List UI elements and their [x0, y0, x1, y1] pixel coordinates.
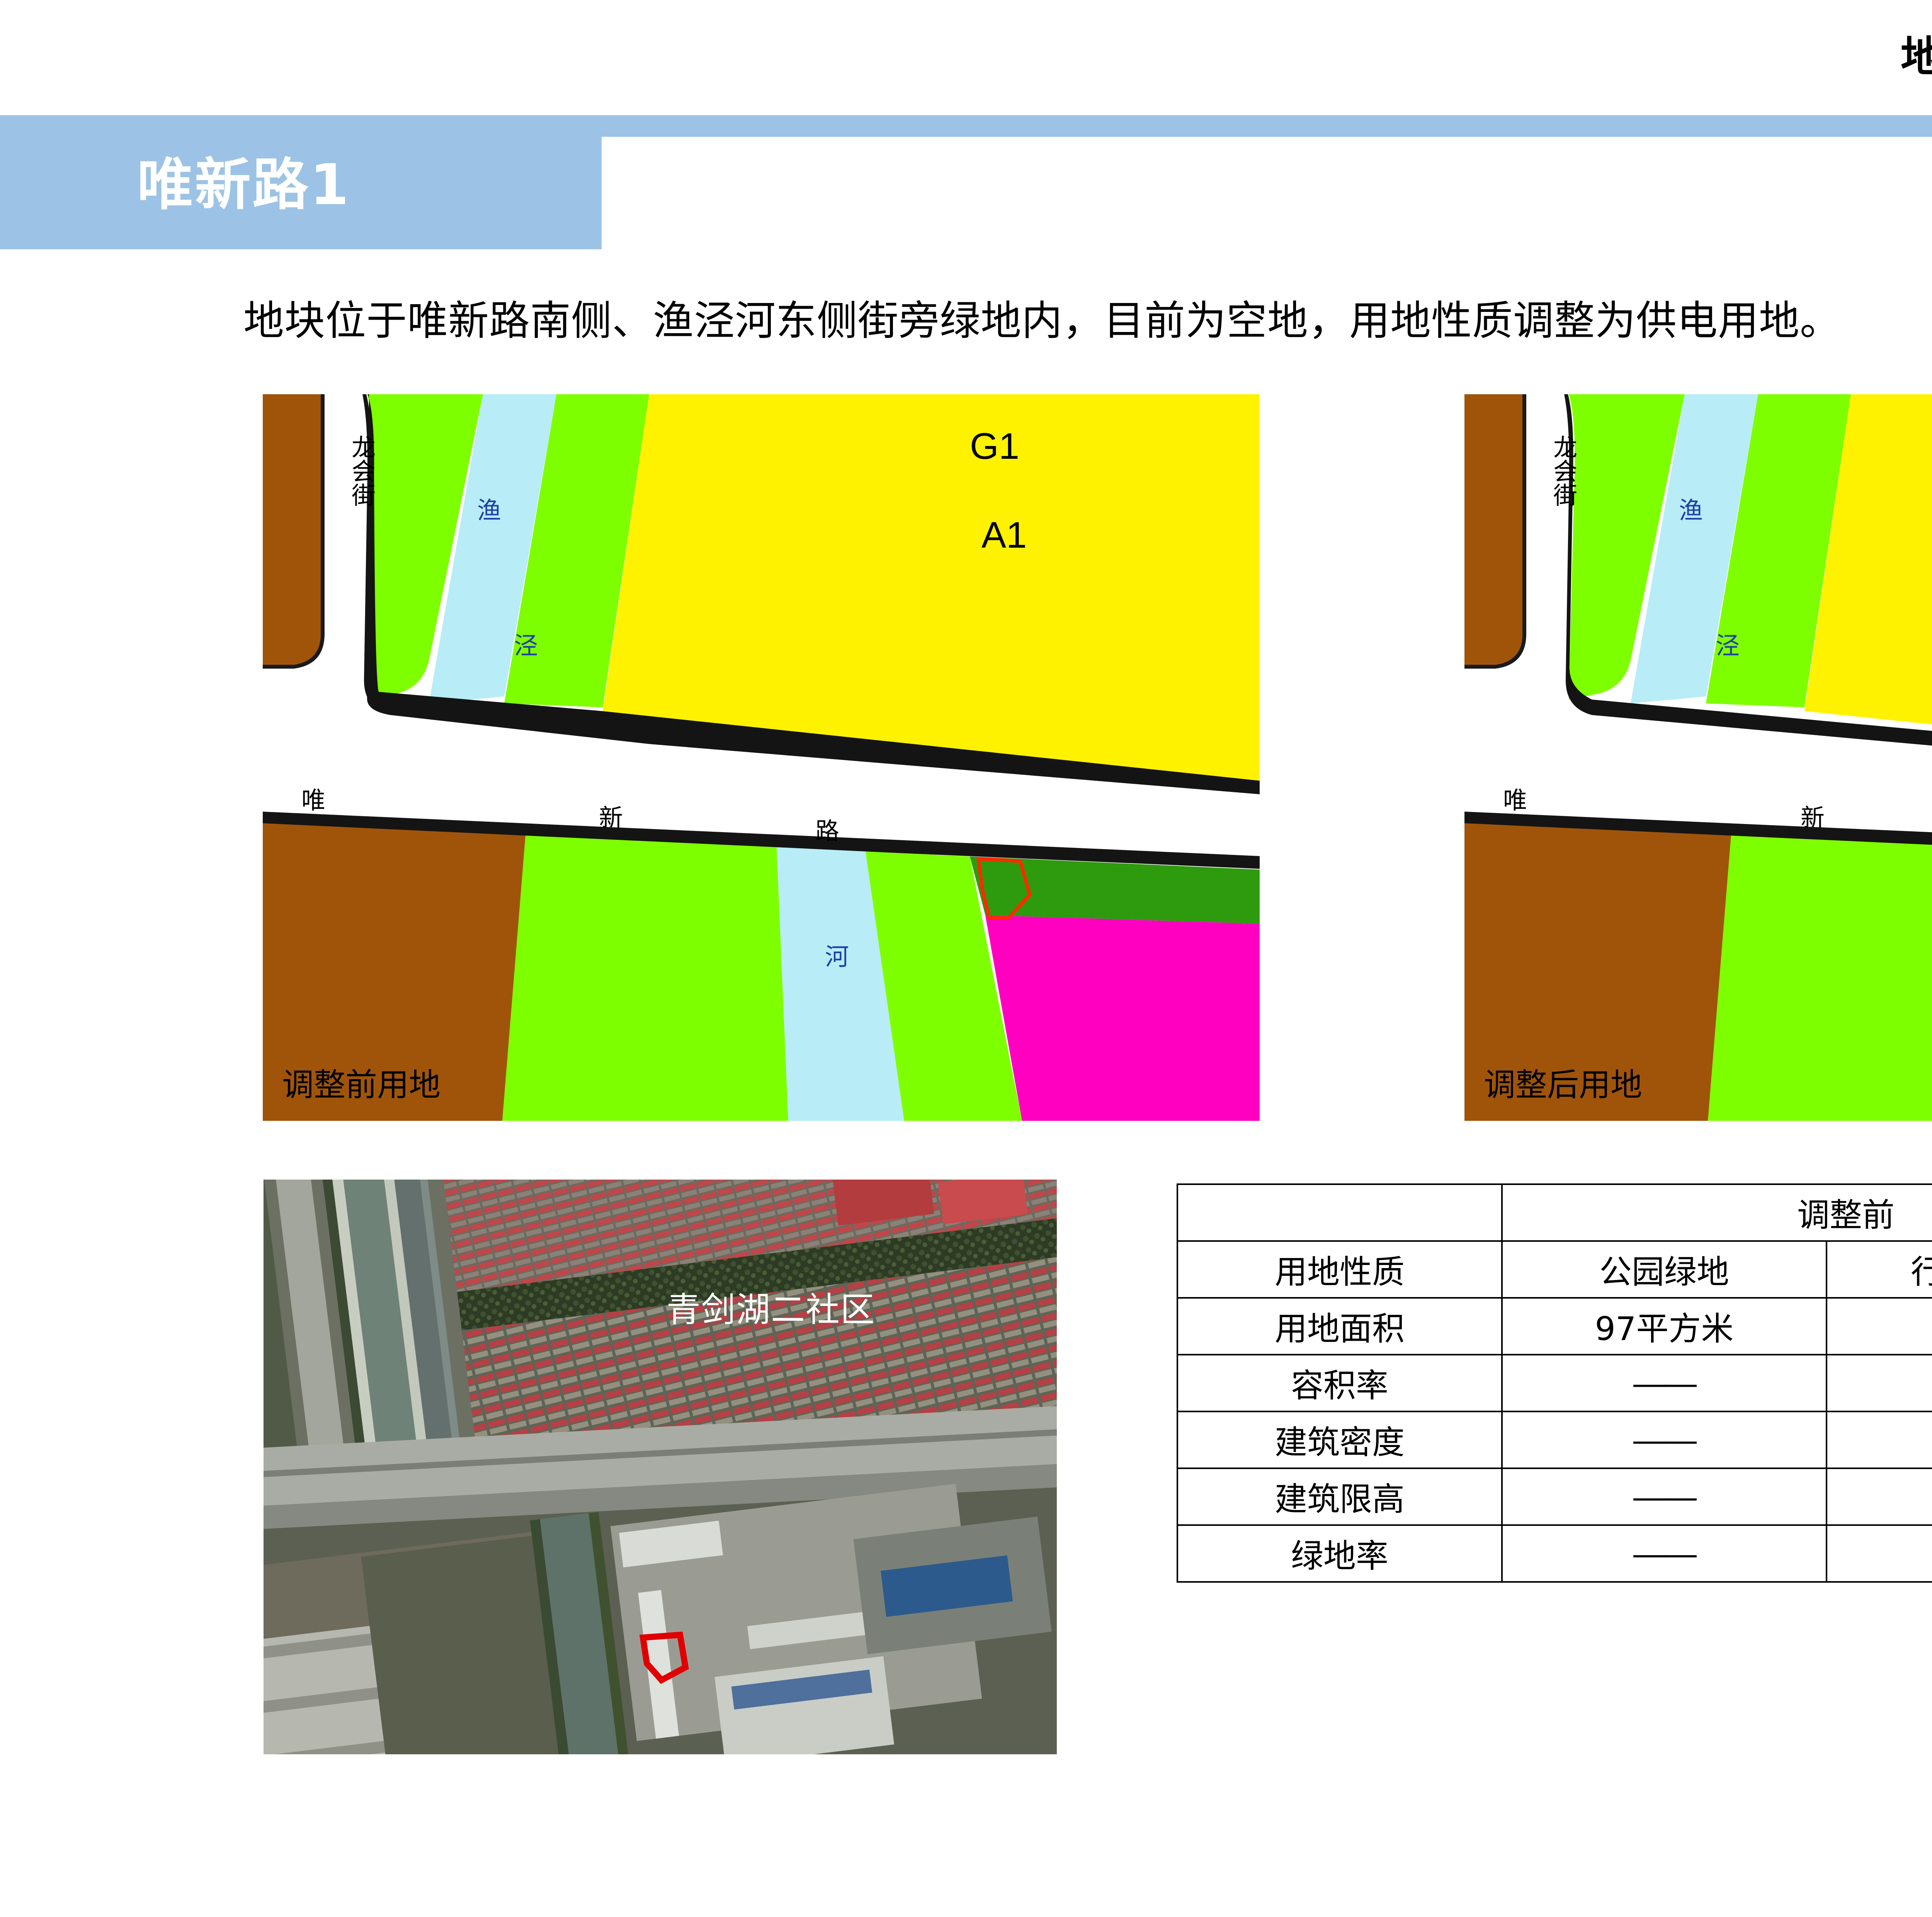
- row-label-land-area: 用地面积: [1177, 1298, 1502, 1355]
- label-road-1-before: 唯: [301, 781, 325, 815]
- upper-block-after: [1464, 394, 1932, 794]
- satellite-photo-svg: [264, 1180, 1057, 1754]
- label-river-lower-after: 泾: [1716, 626, 1740, 661]
- cell-before-2: ——: [1827, 1411, 1932, 1468]
- label-river-lower-before: 泾: [514, 626, 538, 661]
- cell-before-2: ——: [1827, 1468, 1932, 1525]
- description-paragraph: 地块位于唯新路南侧、渔泾河东侧街旁绿地内，目前为空地，用地性质调整为供电用地。: [243, 288, 1841, 347]
- row-label-green-ratio: 绿地率: [1177, 1525, 1502, 1582]
- cell-before-1: ——: [1502, 1411, 1827, 1468]
- label-river-upper-before: 渔: [477, 491, 501, 526]
- page-title: 唯新路1: [137, 139, 350, 220]
- table-row: 建筑限高 —— —— 12米: [1177, 1468, 1932, 1525]
- table-row: 绿地率 —— —— ——: [1177, 1525, 1932, 1582]
- label-street-after: 龙会街: [1546, 435, 1580, 507]
- table-row: 用地面积 97平方米 22平方米 119平方米: [1177, 1298, 1932, 1355]
- row-label-height-limit: 建筑限高: [1177, 1468, 1502, 1525]
- map-before-adjustment: 龙会街 渔 泾 唯 新 路 河: [263, 394, 1260, 1121]
- cell-before-2: ——: [1827, 1355, 1932, 1411]
- cell-before-1: ——: [1502, 1355, 1827, 1411]
- magenta-block: [985, 915, 1260, 1121]
- brown-block-icon-2: [1464, 394, 1522, 665]
- label-river-upper-after: 渔: [1679, 491, 1703, 526]
- row-label-far: 容积率: [1177, 1355, 1502, 1411]
- satellite-photo: [264, 1180, 1057, 1754]
- cell-before-1: 公园绿地: [1502, 1241, 1827, 1298]
- cell-before-1: ——: [1502, 1468, 1827, 1525]
- label-street-before: 龙会街: [344, 435, 379, 507]
- cell-before-2: 22平方米: [1827, 1298, 1932, 1355]
- row-label-land-use: 用地性质: [1177, 1241, 1502, 1298]
- photo-community-label: 青剑湖二社区: [667, 1282, 875, 1331]
- table-header-row: 调整前 调整后: [1177, 1184, 1932, 1241]
- label-road-2-after: 新: [1801, 798, 1825, 833]
- table-header-before: 调整前: [1502, 1184, 1932, 1241]
- caption-before-adjustment: 调整前用地: [282, 1059, 440, 1105]
- map-before-svg: [263, 394, 1260, 1121]
- row-label-building-density: 建筑密度: [1177, 1411, 1502, 1468]
- cell-before-1: 97平方米: [1502, 1298, 1827, 1355]
- label-road-1-after: 唯: [1503, 781, 1527, 815]
- caption-after-adjustment: 调整后用地: [1484, 1059, 1642, 1105]
- table-row: 容积率 —— —— 0.5: [1177, 1355, 1932, 1411]
- label-road-3-before: 路: [815, 812, 839, 846]
- green-band-3: [502, 836, 788, 1121]
- table-row: 用地性质 公园绿地 行政办公用地 供电用地: [1177, 1241, 1932, 1298]
- table-corner-cell: [1177, 1184, 1502, 1241]
- table-row: 建筑密度 —— —— ——: [1177, 1411, 1932, 1468]
- slide-header-title: 地块9：唯新路、城北路相关开闭所地块: [1901, 23, 1932, 83]
- green-band-3b: [1708, 836, 1932, 1121]
- cell-before-2: 行政办公用地: [1827, 1241, 1932, 1298]
- label-road-2-before: 新: [599, 798, 623, 833]
- map-after-adjustment: 龙会街 渔 泾 唯 新 路 河: [1464, 394, 1932, 1121]
- cell-before-1: ——: [1502, 1525, 1827, 1582]
- brown-block-icon: [263, 394, 321, 665]
- parcel-code-a1: A1: [981, 514, 1027, 557]
- land-use-spec-table: 调整前 调整后 用地性质 公园绿地 行政办公用地 供电用地 用地面积 97平方米…: [1177, 1183, 1932, 1583]
- upper-block-before: [263, 394, 1260, 794]
- cell-before-2: ——: [1827, 1525, 1932, 1582]
- label-river-mid-before: 河: [825, 937, 849, 972]
- parcel-code-g1: G1: [970, 425, 1019, 468]
